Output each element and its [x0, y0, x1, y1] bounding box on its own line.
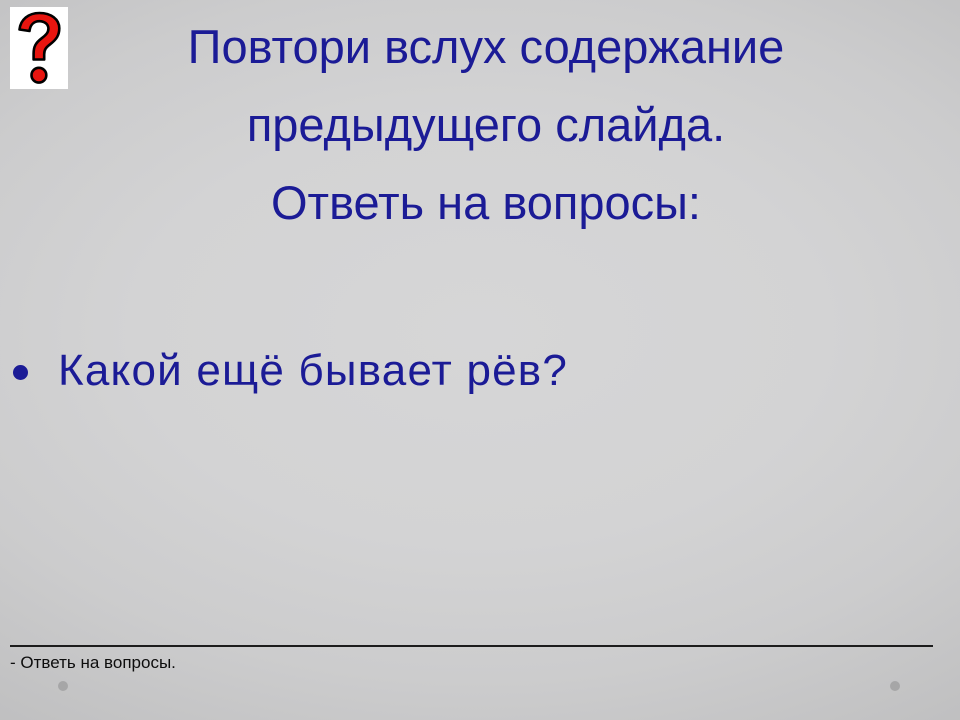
slide-title: Повтори вслух содержание предыдущего сла…	[76, 8, 896, 242]
slide-body: Какой ещё бывает рёв?	[0, 336, 960, 406]
decorative-dot-left	[58, 681, 68, 691]
bullet-icon	[13, 365, 28, 380]
question-mark-image	[10, 7, 68, 89]
footer-note: - Ответь на вопросы.	[10, 651, 710, 675]
footer-divider	[10, 645, 933, 647]
title-line-1: Повтори вслух содержание	[76, 8, 896, 86]
slide-canvas: Повтори вслух содержание предыдущего сла…	[0, 0, 960, 720]
decorative-dot-right	[890, 681, 900, 691]
question-mark-icon	[10, 7, 68, 89]
list-item: Какой ещё бывает рёв?	[0, 336, 960, 406]
title-line-2: предыдущего слайда.	[76, 86, 896, 164]
bullet-item-label: Какой ещё бывает рёв?	[28, 343, 568, 399]
title-line-3: Ответь на вопросы:	[76, 164, 896, 242]
